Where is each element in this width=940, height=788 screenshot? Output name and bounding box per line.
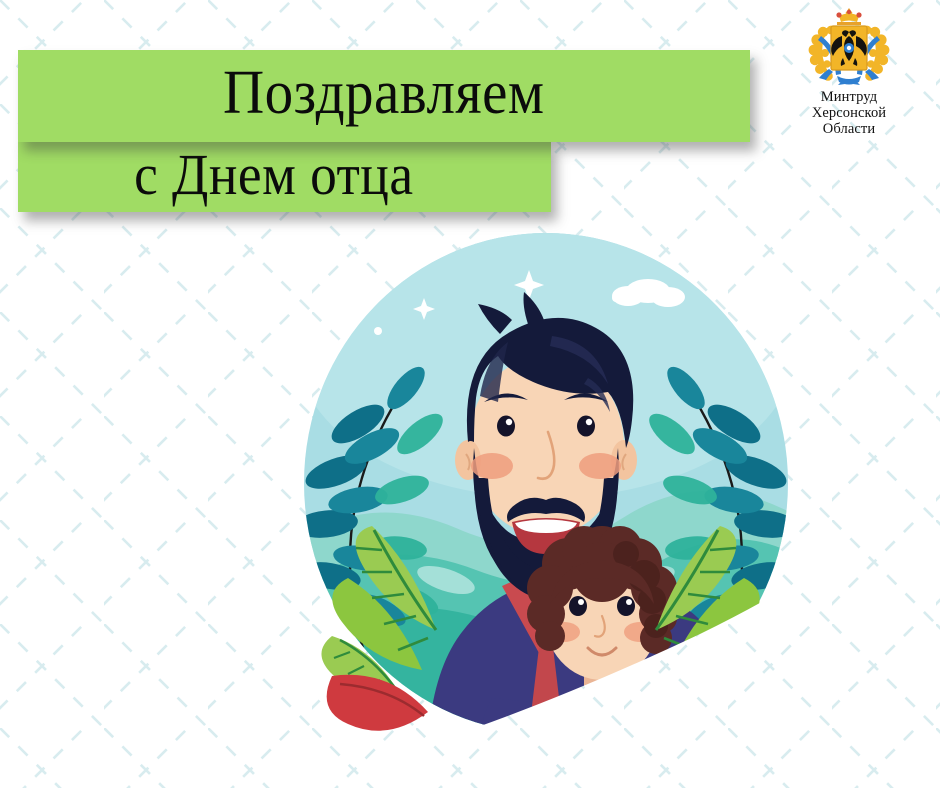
emblem-caption-line-2: Херсонской xyxy=(782,105,916,121)
title-line-one: Поздравляем xyxy=(223,62,544,130)
title-line-two: с Днем отца xyxy=(134,146,435,208)
greeting-card: Минтруд Херсонской Области Поздравляем с… xyxy=(0,0,940,788)
father-and-son-illustration xyxy=(296,228,796,788)
ministry-emblem-block: Минтруд Херсонской Области xyxy=(782,6,916,138)
title-banner-primary: Поздравляем xyxy=(18,50,750,142)
title-banner-secondary: с Днем отца xyxy=(18,142,551,212)
emblem-caption-line-3: Области xyxy=(782,121,916,137)
emblem-caption-line-1: Минтруд xyxy=(782,89,916,105)
father-son-artwork xyxy=(296,228,796,788)
emblem-caption: Минтруд Херсонской Области xyxy=(782,89,916,138)
coat-of-arms-icon xyxy=(803,6,895,86)
